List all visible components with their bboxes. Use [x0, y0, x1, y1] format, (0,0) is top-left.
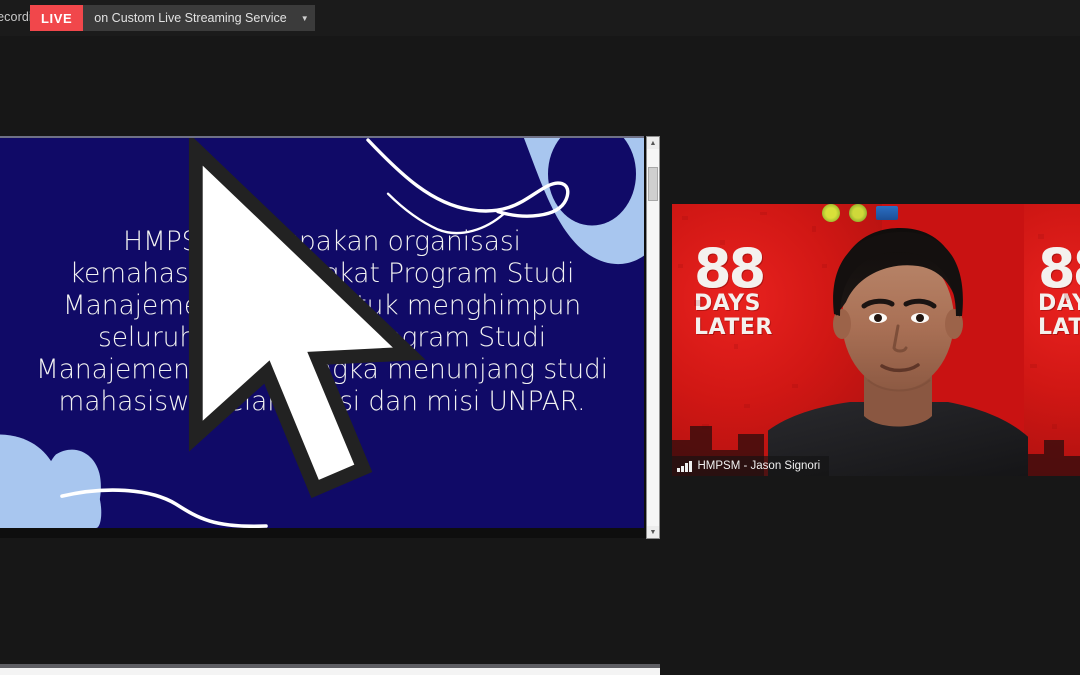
presentation-slide-frame: HMPSM merupakan organisasi kemahasiswaan…	[0, 136, 644, 528]
shared-window-bottom-strip	[0, 668, 660, 675]
mouse-pointer-icon	[0, 138, 644, 528]
scroll-down-arrow-icon[interactable]: ▼	[647, 526, 659, 538]
scroll-up-arrow-icon[interactable]: ▲	[647, 137, 659, 149]
participant-name-label: HMPSM - Jason Signori	[698, 460, 821, 472]
signal-bars-icon	[677, 461, 692, 472]
participant-name-tag: HMPSM - Jason Signori	[672, 456, 829, 476]
live-badge: LIVE	[30, 5, 83, 31]
zoom-meeting-screen: Recording LIVE on Custom Live Streaming …	[0, 0, 1080, 675]
presentation-slide: HMPSM merupakan organisasi kemahasiswaan…	[0, 138, 644, 528]
vertical-scrollbar[interactable]: ▲ ▼	[646, 136, 660, 539]
shared-screen-region[interactable]: HMPSM merupakan organisasi kemahasiswaan…	[0, 136, 660, 538]
chevron-down-icon[interactable]: ▼	[295, 5, 315, 31]
live-destination-label: on Custom Live Streaming Service	[83, 5, 294, 31]
participant-silhouette	[768, 204, 1028, 476]
participant-video-tile[interactable]: 88 DAYS LATER 88 DAYS LATER	[672, 204, 1080, 476]
recording-status-bar: Recording LIVE on Custom Live Streaming …	[0, 0, 1080, 36]
scrollbar-thumb[interactable]	[648, 167, 658, 201]
live-stream-indicator[interactable]: LIVE on Custom Live Streaming Service ▼	[30, 5, 315, 31]
